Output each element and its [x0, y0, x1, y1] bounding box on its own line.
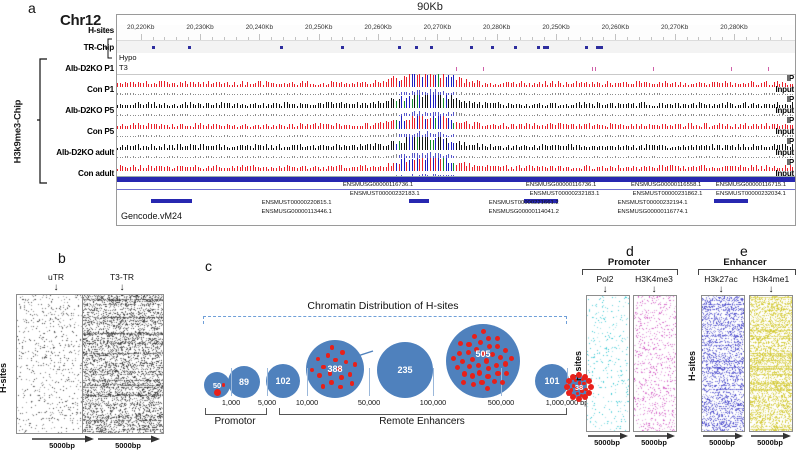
signal-bar — [461, 78, 462, 87]
signal-bar — [393, 120, 394, 130]
chip-ip-signal — [117, 116, 795, 129]
chip-input-signal — [117, 129, 795, 137]
panel-e-scale-label-1: 5000bp — [757, 438, 783, 447]
panel-e-heatmap-0[interactable] — [701, 295, 745, 432]
signal-bar — [443, 139, 444, 150]
red-dot — [495, 336, 500, 341]
signal-bar — [446, 118, 447, 130]
bubble[interactable]: 89 — [228, 366, 260, 398]
signal-bar — [388, 79, 389, 87]
signal-bar — [448, 99, 449, 108]
signal-bar — [406, 120, 407, 129]
hsite-marker — [341, 46, 344, 49]
panel-e-heatmap-title-0: H3k27ac — [704, 274, 738, 284]
signal-bar — [393, 76, 394, 87]
signal-bar — [399, 121, 400, 129]
signal-bar — [427, 119, 428, 130]
signal-bar — [435, 158, 436, 171]
signal-bar — [433, 140, 434, 150]
signal-bar — [435, 118, 436, 130]
red-dot — [477, 370, 482, 375]
panel-d-arrow-icon-1: ↓ — [652, 286, 657, 294]
track-label-4: Alb-D2KO adult — [56, 148, 114, 157]
axis-tick-label: 1,000 — [222, 398, 240, 407]
axis-tick-label: 10,000 — [296, 398, 318, 407]
red-dot — [486, 366, 491, 371]
signal-bar — [427, 95, 428, 108]
gene-id-label: ENSMUST00000232183.1 — [530, 191, 600, 197]
track-label-0: Alb-D2KO P1 — [65, 64, 114, 73]
red-dot — [492, 379, 497, 384]
signal-bar — [399, 99, 400, 108]
signal-bar — [396, 78, 397, 87]
signal-bar — [425, 160, 426, 171]
red-dot — [316, 357, 321, 362]
input-label: Input — [775, 128, 794, 136]
signal-bar — [388, 101, 389, 108]
ruler-tick-label: 20,220Kb — [127, 24, 154, 31]
panel-a-genome-browser: Chr12 90Kb H-sites TR-Chip Alb-D2KO P1 C… — [0, 0, 798, 232]
red-dot — [576, 392, 579, 395]
signal-bar — [440, 137, 441, 150]
signal-bar — [388, 163, 389, 171]
signal-bar — [401, 159, 402, 171]
red-dot — [566, 390, 572, 396]
signal-bar — [451, 77, 452, 88]
gene-id-label: ENSMUST00000232034.1 — [716, 191, 786, 197]
signal-bar — [430, 158, 431, 171]
panel-d-heatmap-title-0: Pol2 — [596, 274, 613, 284]
panel-d-scale-label-1: 5000bp — [641, 438, 667, 447]
signal-bar — [459, 77, 460, 87]
chip-group-brace-icon — [36, 58, 48, 184]
signal-bar — [425, 137, 426, 150]
signal-bar — [453, 75, 454, 87]
red-dot — [329, 380, 334, 385]
signal-bar — [391, 98, 392, 108]
red-dot — [317, 373, 322, 378]
ruler-tick-label: 20,270Kb — [424, 24, 451, 31]
bubble-value: 101 — [544, 376, 559, 386]
signal-bar — [477, 143, 478, 150]
signal-bar — [401, 116, 402, 129]
red-dot — [485, 386, 490, 391]
signal-bar — [448, 118, 449, 129]
hsite-marker — [537, 46, 540, 49]
red-dot — [504, 371, 509, 376]
red-dot — [470, 373, 475, 378]
signal-bar — [422, 97, 423, 108]
signal-bar — [464, 142, 465, 150]
red-dot — [326, 353, 331, 358]
signal-bar — [438, 158, 439, 171]
signal-bar — [417, 116, 418, 129]
bubble[interactable]: 50 — [204, 372, 230, 398]
trchip-mark — [768, 67, 769, 71]
signal-bar — [425, 119, 426, 129]
hsite-marker — [280, 46, 283, 49]
ruler-tick-label: 20,280Kb — [720, 24, 747, 31]
panel-b-heatmap-1[interactable] — [82, 294, 164, 434]
signal-bar — [414, 118, 415, 129]
signal-bar — [393, 163, 394, 171]
chip-track: IPInput — [117, 116, 795, 137]
signal-bar — [409, 74, 410, 87]
signal-bar — [399, 164, 400, 172]
red-dot — [467, 364, 472, 369]
bubble[interactable]: 102 — [266, 364, 300, 398]
bubble[interactable]: 101 — [535, 364, 569, 398]
signal-bar — [404, 143, 405, 150]
signal-bar — [433, 116, 434, 129]
chip-ip-signal — [117, 137, 795, 150]
red-dot — [321, 384, 326, 389]
browser-viewport[interactable]: 20,220Kb20,230Kb20,240Kb20,250Kb20,260Kb… — [116, 14, 796, 226]
signal-bar — [427, 137, 428, 150]
red-dot — [478, 340, 483, 345]
axis-tick — [267, 368, 268, 396]
signal-bar — [399, 141, 400, 150]
chip-input-signal — [117, 108, 795, 116]
hsite-marker — [152, 46, 155, 49]
signal-bar — [412, 116, 413, 129]
panel-b-ylabel: H-sites — [0, 363, 8, 393]
panel-b-arrow-icon-0: ↓ — [54, 284, 59, 292]
signal-bar — [396, 101, 397, 109]
hsite-marker — [491, 46, 494, 49]
signal-bar — [438, 137, 439, 150]
red-dot — [500, 380, 505, 385]
signal-bar — [406, 98, 407, 108]
signal-bar — [448, 163, 449, 171]
promotor-brace — [205, 408, 267, 415]
signal-bar — [446, 138, 447, 151]
signal-bar — [417, 95, 418, 108]
trchip-brace-icon — [104, 38, 113, 59]
ruler-tick-label: 20,250Kb — [305, 24, 332, 31]
trchip-mark — [592, 67, 593, 71]
signal-bar — [422, 116, 423, 129]
input-label: Input — [775, 149, 794, 157]
red-dot — [222, 383, 225, 386]
signal-bar — [451, 95, 452, 108]
red-dot — [509, 356, 514, 361]
axis-tick — [369, 368, 370, 396]
span-length-label: 90Kb — [385, 1, 475, 13]
signal-bar — [414, 160, 415, 171]
signal-bar — [427, 75, 428, 88]
bubble-value: 89 — [239, 377, 249, 387]
axis-tick-label: 50,000 — [358, 398, 380, 407]
signal-bar — [396, 120, 397, 129]
signal-bar — [393, 99, 394, 108]
track-label-5: Con adult — [78, 169, 114, 178]
red-dot — [348, 372, 353, 377]
ip-label: IP — [787, 117, 794, 125]
signal-bar — [448, 143, 449, 150]
panel-b-heatmaps: H-sites uTR ↓ 5000bp T3-TR ↓ 5000bp — [0, 248, 180, 453]
red-dot — [330, 345, 335, 350]
hsite-marker — [600, 46, 603, 49]
signal-bar — [438, 116, 439, 129]
signal-bar — [419, 159, 420, 171]
red-dot — [214, 389, 221, 396]
signal-bar — [409, 96, 410, 108]
red-dot — [461, 380, 466, 385]
signal-bar — [419, 137, 420, 150]
red-dot — [485, 374, 490, 379]
panel-d-group-title: Promoter — [608, 257, 650, 268]
signal-bar — [459, 100, 460, 108]
trchip-mark — [731, 67, 732, 71]
signal-bar — [456, 122, 457, 129]
signal-bar — [453, 99, 454, 108]
signal-bar — [419, 74, 420, 87]
promotor-group-label: Promotor — [214, 416, 255, 427]
red-dot — [460, 359, 465, 364]
trchip-t3-label: T3 — [119, 63, 128, 72]
panel-e-arrow-icon-1: ↓ — [769, 286, 774, 294]
ruler-tick-label: 20,280Kb — [483, 24, 510, 31]
signal-bar — [459, 163, 460, 171]
red-dot — [310, 368, 315, 373]
signal-bar — [466, 79, 467, 87]
signal-bar — [406, 162, 407, 171]
red-dot — [340, 350, 345, 355]
signal-bar — [417, 75, 418, 87]
signal-bar — [438, 95, 439, 108]
bubble[interactable]: 235 — [377, 342, 433, 398]
panel-b-heatmap-title-1: T3-TR — [110, 272, 134, 282]
genomic-ruler: 20,220Kb20,230Kb20,240Kb20,250Kb20,260Kb… — [117, 25, 795, 41]
signal-bar — [435, 95, 436, 108]
signal-bar — [425, 95, 426, 108]
gene-feature[interactable] — [714, 199, 748, 203]
bubble[interactable]: 388 — [306, 340, 364, 398]
signal-bar — [464, 162, 465, 171]
signal-bar — [433, 75, 434, 87]
signal-bar — [412, 99, 413, 108]
signal-bar — [451, 142, 452, 150]
panel-e-enhancer-heatmaps: Enhancer H-sites H3k27ac ↓ 5000bp H3k4me… — [690, 243, 798, 453]
axis-tick — [307, 368, 308, 396]
axis-tick-label: 100,000 — [420, 398, 446, 407]
gene-id-label: ENSMUSG00000116736.1 — [343, 182, 413, 188]
panel-e-scale-label-0: 5000bp — [709, 438, 735, 447]
signal-bar — [419, 116, 420, 129]
signal-bar — [456, 80, 457, 87]
red-dot — [484, 358, 489, 363]
signal-bar — [404, 101, 405, 109]
ruler-tick-label: 20,260Kb — [602, 24, 629, 31]
signal-bar — [440, 159, 441, 171]
axis-tick-label: 5,000 — [258, 398, 276, 407]
bubble-value: 505 — [475, 349, 490, 359]
red-dot — [495, 344, 500, 349]
gene-id-label: ENSMUSG00000114041.2 — [489, 209, 559, 215]
chip-group-label: H3k9me3-Chip — [13, 87, 24, 177]
signal-bar — [469, 163, 470, 171]
red-dot — [458, 341, 463, 346]
signal-bar — [461, 163, 462, 171]
signal-bar — [412, 74, 413, 87]
gene-id-label: ENSMUST00000231862.1 — [633, 191, 703, 197]
gene-id-label: ENSMUSG00000116774.1 — [617, 209, 687, 215]
signal-bar — [422, 158, 423, 171]
red-dot — [481, 329, 486, 334]
track-label-1: Con P1 — [87, 85, 114, 94]
gene-id-label: ENSMUSG00000113446.1 — [262, 209, 332, 215]
signal-bar — [440, 78, 441, 87]
chip-ip-signal — [117, 158, 795, 171]
signal-bar — [375, 143, 376, 150]
panel-e-group-title: Enhancer — [723, 257, 766, 268]
signal-bar — [391, 141, 392, 150]
signal-bar — [396, 163, 397, 171]
hsite-marker — [430, 46, 433, 49]
red-dot — [503, 348, 508, 353]
red-dot — [476, 363, 481, 368]
red-dot — [451, 356, 456, 361]
panel-d-arrow-icon-0: ↓ — [603, 286, 608, 294]
red-dot — [486, 336, 491, 341]
signal-bar — [412, 137, 413, 150]
bubble[interactable]: 505 — [446, 324, 520, 398]
input-label: Input — [775, 107, 794, 115]
signal-bar — [409, 137, 410, 150]
signal-bar — [464, 101, 465, 108]
panel-e-heatmap-1[interactable] — [749, 295, 793, 432]
panel-d-heatmap-1[interactable] — [633, 295, 677, 432]
panel-e-arrow-icon-0: ↓ — [719, 286, 724, 294]
axis-tick — [231, 368, 232, 396]
signal-bar — [417, 137, 418, 150]
signal-bar — [380, 122, 381, 129]
trchip-mark — [595, 67, 596, 71]
red-dot — [344, 360, 349, 365]
panel-b-scale-label-0: 5000bp — [49, 441, 75, 450]
signal-bar — [422, 137, 423, 150]
chip-ip-signal — [117, 74, 795, 87]
signal-bar — [456, 143, 457, 150]
gene-track-line — [117, 189, 795, 190]
row-label-hsites: H-sites — [88, 26, 114, 35]
signal-bar — [419, 95, 420, 108]
signal-bar — [417, 158, 418, 171]
trchip-mark — [456, 67, 457, 71]
panel-e-ylabel: H-sites — [687, 351, 697, 381]
red-dot — [471, 382, 476, 387]
panel-b-arrow-icon-1: ↓ — [120, 284, 125, 292]
signal-bar — [448, 75, 449, 87]
signal-bar — [409, 120, 410, 129]
signal-bar — [469, 101, 470, 108]
red-dot — [495, 371, 500, 376]
hsite-marker — [514, 46, 517, 49]
ip-label: IP — [787, 75, 794, 83]
signal-bar — [404, 76, 405, 87]
ruler-tick-label: 20,270Kb — [661, 24, 688, 31]
track-label-3: Con P5 — [87, 127, 114, 136]
signal-bar — [404, 158, 405, 171]
chip-track: IPInput — [117, 137, 795, 158]
trchip-mark — [653, 67, 654, 71]
gene-id-label: ENSMUSG00000116558.1 — [631, 182, 701, 188]
gene-id-label: ENSMUST00000232183.1 — [350, 191, 420, 197]
red-dot — [333, 358, 338, 363]
track-label-column: H-sites TR-Chip Alb-D2KO P1 Con P1 Alb-D… — [0, 14, 114, 226]
chip-ip-signal — [117, 95, 795, 108]
red-dot — [494, 363, 499, 368]
gene-feature[interactable] — [409, 199, 429, 203]
signal-bar — [435, 75, 436, 87]
signal-bar — [430, 140, 431, 150]
signal-bar — [406, 137, 407, 150]
bubble-value: 38 — [575, 383, 583, 392]
chip-track: IPInput — [117, 74, 795, 95]
hsite-marker — [470, 46, 473, 49]
signal-bar — [477, 80, 478, 87]
red-dot — [490, 352, 495, 357]
signal-bar — [386, 101, 387, 108]
panel-b-heatmap-title-0: uTR — [48, 272, 64, 282]
gene-id-label: ENSMUST00000220815.1 — [262, 200, 332, 206]
red-dot — [457, 351, 462, 356]
bubble-value: 102 — [275, 376, 290, 386]
track-label-2: Alb-D2KO P5 — [65, 106, 114, 115]
signal-bar — [414, 137, 415, 150]
red-dot — [466, 342, 471, 347]
hsite-marker — [415, 46, 418, 49]
signal-bar — [393, 141, 394, 150]
signal-bar — [375, 80, 376, 87]
panel-c-bubble-chart: Chromatin Distribution of H-sites POL-II… — [183, 248, 583, 453]
ruler-tick-label: 20,240Kb — [246, 24, 273, 31]
bubble-value: 235 — [397, 365, 412, 375]
signal-bar — [459, 141, 460, 150]
axis-tick — [433, 368, 434, 396]
signal-bar — [406, 77, 407, 87]
ip-label: IP — [787, 159, 794, 167]
ruler-tick-label: 20,230Kb — [186, 24, 213, 31]
tr-chip-track: Hypo T3 — [117, 53, 795, 75]
chip-track: IPInput — [117, 95, 795, 116]
signal-bar — [477, 122, 478, 129]
panel-d-promoter-heatmaps: Promoter H-sites Pol2 ↓ 5000bp H3K4me3 ↓… — [576, 243, 682, 453]
signal-bar — [430, 118, 431, 130]
gene-id-label: ENSMUSG00000116736.1 — [526, 182, 596, 188]
signal-bar — [433, 95, 434, 108]
input-label: Input — [775, 86, 794, 94]
signal-bar — [443, 116, 444, 129]
ip-label: IP — [787, 138, 794, 146]
red-dot — [498, 355, 503, 360]
red-dot — [466, 350, 471, 355]
bubble-value: 50 — [213, 381, 221, 390]
signal-bar — [388, 122, 389, 129]
trchip-mark — [483, 67, 484, 71]
trchip-hypo-label: Hypo — [119, 53, 137, 62]
gene-feature[interactable] — [151, 199, 192, 203]
hsite-marker — [585, 46, 588, 49]
ruler-tick-label: 20,250Kb — [542, 24, 569, 31]
signal-bar — [427, 158, 428, 171]
signal-bar — [456, 98, 457, 108]
panel-d-heatmap-0[interactable] — [586, 295, 630, 432]
panel-c-title: Chromatin Distribution of H-sites — [307, 300, 458, 312]
axis-tick-label: 500,000 — [488, 398, 514, 407]
signal-bar — [401, 96, 402, 108]
